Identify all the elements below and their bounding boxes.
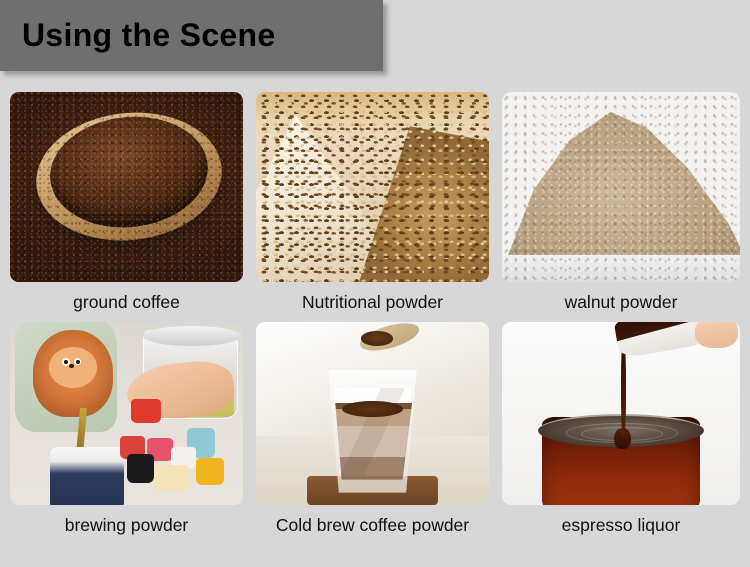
photo-walnut-powder bbox=[502, 92, 740, 282]
caption-walnut-powder: walnut powder bbox=[502, 282, 740, 322]
photo-brewing-powder bbox=[10, 322, 243, 505]
thumbnail-cold-brew-coffee-powder[interactable] bbox=[256, 322, 489, 505]
photo-espresso-liquor bbox=[502, 322, 740, 505]
page-title: Using the Scene bbox=[22, 17, 275, 54]
thumbnail-espresso-liquor[interactable] bbox=[502, 322, 740, 505]
caption-nutritional-powder: Nutritional powder bbox=[256, 282, 489, 322]
caption-ground-coffee: ground coffee bbox=[10, 282, 243, 322]
thumbnail-walnut-powder[interactable] bbox=[502, 92, 740, 282]
caption-cold-brew-coffee-powder: Cold brew coffee powder bbox=[256, 505, 489, 545]
photo-nutritional-powder bbox=[256, 92, 489, 282]
caption-espresso-liquor: espresso liquor bbox=[502, 505, 740, 545]
thumbnail-nutritional-powder[interactable] bbox=[256, 92, 489, 282]
gallery-item[interactable]: brewing powder bbox=[10, 322, 243, 545]
caption-brewing-powder: brewing powder bbox=[10, 505, 243, 545]
gallery-item[interactable]: ground coffee bbox=[10, 92, 243, 322]
scene-gallery: ground coffee Nutritional powder walnut … bbox=[10, 92, 740, 546]
thumbnail-brewing-powder[interactable] bbox=[10, 322, 243, 505]
thumbnail-ground-coffee[interactable] bbox=[10, 92, 243, 282]
gallery-item[interactable]: walnut powder bbox=[502, 92, 740, 322]
header-banner: Using the Scene bbox=[0, 0, 383, 71]
gallery-item[interactable]: espresso liquor bbox=[502, 322, 740, 545]
gallery-item[interactable]: Nutritional powder bbox=[256, 92, 489, 322]
gallery-item[interactable]: Cold brew coffee powder bbox=[256, 322, 489, 545]
photo-cold-brew-coffee-powder bbox=[256, 322, 489, 505]
photo-ground-coffee bbox=[10, 92, 243, 282]
